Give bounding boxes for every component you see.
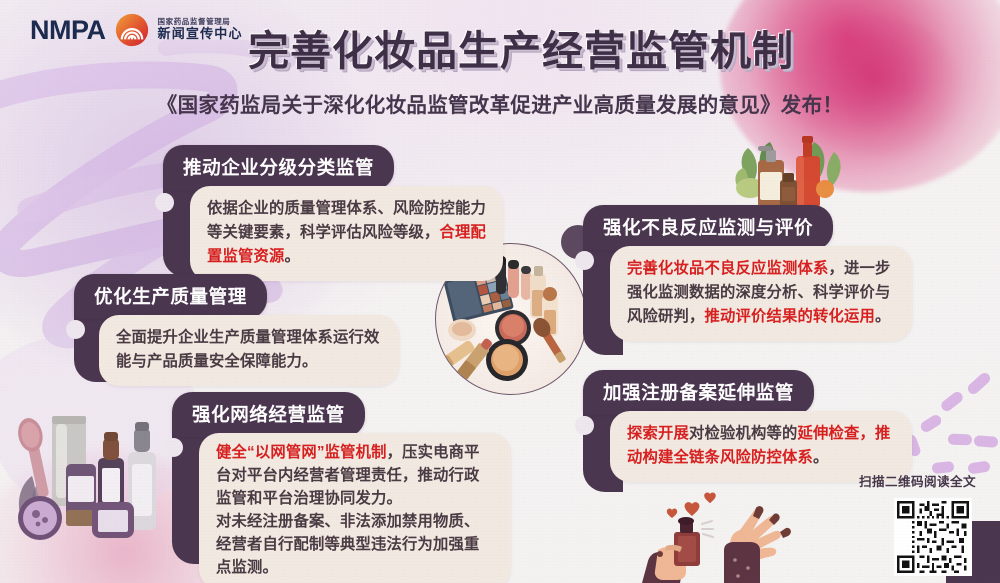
infographic-poster: NMPA 国家药品监督管理局 新闻宣传中心 完善化妆品生产经营监管机制 《国家药… xyxy=(0,0,1000,583)
qr-label: 扫描二维码阅读全文 xyxy=(859,471,976,490)
skincare-bottles-leaves-illustration xyxy=(722,122,852,218)
card-registration: 加强注册备案延伸监管 探索开展对检验机构等的延伸检查，推动构建全链条风险防控体系… xyxy=(583,370,913,482)
nmpa-logo: NMPA 国家药品监督管理局 新闻宣传中心 xyxy=(30,13,243,47)
qr-code[interactable] xyxy=(894,498,972,576)
logo-center-name: 新闻宣传中心 xyxy=(158,27,243,42)
card-registration-title: 加强注册备案延伸监管 xyxy=(583,370,814,415)
card-quality-body: 全面提升企业生产质量管理体系运行效能与产品质量安全保障能力。 xyxy=(99,315,399,386)
page-title: 完善化妆品生产经营监管机制 xyxy=(248,17,794,77)
card-quality: 优化生产质量管理 全面提升企业生产质量管理体系运行效能与产品质量安全保障能力。 xyxy=(74,274,404,386)
logo-agency-name: 国家药品监督管理局 xyxy=(158,18,243,26)
decorative-dash xyxy=(939,390,965,413)
card-adverse-highlight-1: 完善化妆品不良反应监测体系 xyxy=(627,260,828,277)
card-quality-title: 优化生产质量管理 xyxy=(74,274,267,319)
card-registration-text-1: 对检验机构等的 xyxy=(689,425,797,442)
card-adverse: 强化不良反应监测与评价 完善化妆品不良反应监测体系，进一步强化监测数据的深度分析… xyxy=(583,205,913,341)
card-adverse-title: 强化不良反应监测与评价 xyxy=(583,205,833,250)
card-network: 强化网络经营监管 健全“以网管网”监管机制，压实电商平台对平台内经营者管理责任，… xyxy=(172,392,512,583)
card-network-text-2: 对未经注册备案、非法添加禁用物质、经营者自行配制等典型违法行为加强重点监测。 xyxy=(216,513,479,576)
qr-code-icon xyxy=(897,501,969,573)
card-adverse-body: 完善化妆品不良反应监测体系，进一步强化监测数据的深度分析、科学评价与风险研判，推… xyxy=(610,246,912,341)
card-adverse-highlight-2: 推动评价结果的转化运用 xyxy=(705,308,875,325)
decorative-dash xyxy=(966,371,993,397)
card-network-body: 健全“以网管网”监管机制，压实电商平台对平台内经营者管理责任，推动行政监管和平台… xyxy=(199,433,511,583)
purple-cosmetic-products-illustration xyxy=(4,406,164,571)
card-registration-highlight-1: 探索开展 xyxy=(627,425,689,442)
card-grading-body: 依据企业的质量管理体系、风险防控能力等关键要素，科学评估风险等级，合理配置监管资… xyxy=(190,186,503,281)
card-grading-text-2: 。 xyxy=(285,248,301,265)
card-network-title: 强化网络经营监管 xyxy=(172,392,365,437)
card-quality-notch xyxy=(66,320,85,339)
card-grading: 推动企业分级分类监管 依据企业的质量管理体系、风险防控能力等关键要素，科学评估风… xyxy=(163,145,503,281)
logo-chinese-text: 国家药品监督管理局 新闻宣传中心 xyxy=(158,18,243,42)
card-adverse-notch xyxy=(575,251,594,270)
card-registration-text-2: 。 xyxy=(813,449,829,466)
decorative-dash xyxy=(948,434,972,446)
decorative-dash xyxy=(919,413,943,434)
decorative-dash xyxy=(974,435,999,448)
logo-wordmark: NMPA xyxy=(30,17,106,44)
card-grading-title: 推动企业分级分类监管 xyxy=(163,145,394,190)
card-adverse-text-2: 。 xyxy=(875,308,891,325)
card-quality-text: 全面提升企业生产质量管理体系运行效能与产品质量安全保障能力。 xyxy=(116,329,379,370)
card-grading-notch xyxy=(155,193,174,212)
card-registration-notch xyxy=(575,416,594,435)
page-subtitle: 《国家药监局关于深化化妆品监管改革促进产业高质量发展的意见》发布！ xyxy=(0,88,1000,118)
card-network-notch xyxy=(164,438,183,457)
hands-perfume-spray-illustration xyxy=(638,488,808,583)
card-network-highlight: 健全“以网管网”监管机制 xyxy=(216,444,387,461)
nmpa-arch-logo-icon xyxy=(115,13,149,47)
